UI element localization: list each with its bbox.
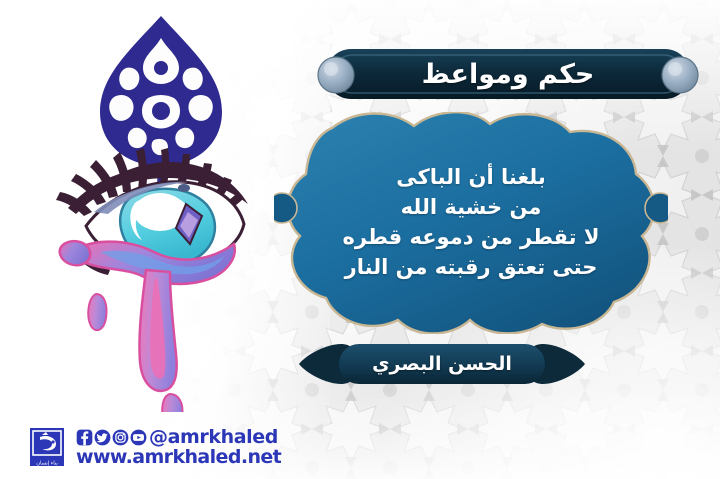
brand-text-block: @amrkhaled www.amrkhaled.net	[76, 428, 281, 467]
social-icons	[76, 429, 147, 446]
benaa-insan-logo[interactable]: بناء إنسان	[28, 425, 72, 469]
header-gem-left	[318, 57, 354, 93]
logo-caption: بناء إنسان	[36, 461, 58, 467]
facebook-icon[interactable]	[76, 429, 93, 446]
youtube-icon[interactable]	[130, 429, 147, 446]
panel-right-circle	[645, 193, 668, 223]
header-ribbon	[312, 47, 704, 101]
poster-canvas: حكم ومواعظ بلغنا أن الباكى من خشية الله …	[0, 0, 720, 479]
instagram-icon[interactable]	[112, 429, 129, 446]
panel-left-circle	[274, 193, 297, 223]
header-gem-right	[662, 57, 698, 93]
quote-panel	[274, 112, 668, 334]
crying-eye-illustration	[38, 12, 288, 412]
website-url[interactable]: www.amrkhaled.net	[76, 448, 281, 467]
social-handle[interactable]: @amrkhaled	[149, 428, 278, 447]
twitter-icon[interactable]	[94, 429, 111, 446]
social-handle-row: @amrkhaled	[76, 428, 281, 447]
footer-brand: بناء إنسان	[28, 425, 281, 469]
attribution-ribbon	[297, 342, 587, 386]
tear-stream	[139, 270, 176, 391]
